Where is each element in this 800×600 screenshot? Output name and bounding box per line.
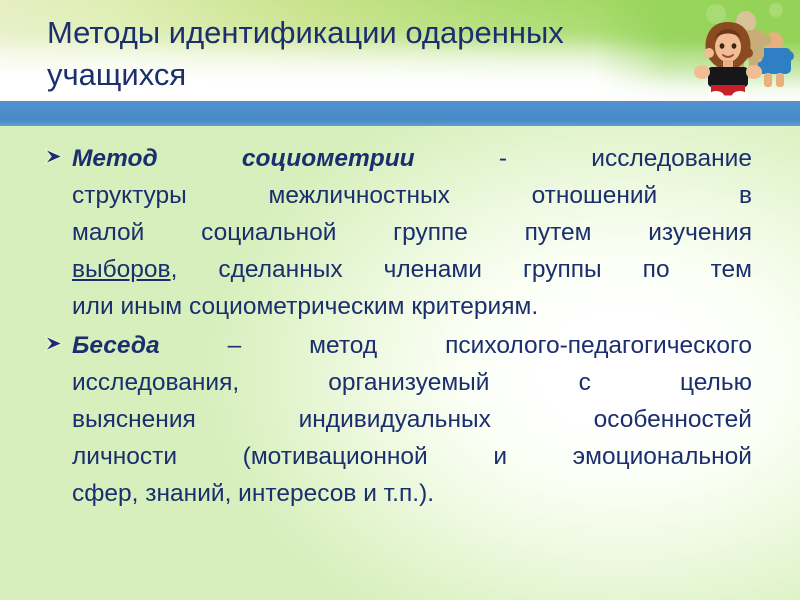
slide-body: Метод социометрии - исследование структу…	[0, 140, 800, 512]
bullet-line: структуры межличностных отношений в	[72, 177, 752, 214]
bullet-line-rest: - исследование	[415, 145, 752, 172]
bullet-item-sociometry: Метод социометрии - исследование структу…	[0, 140, 800, 325]
title-line-1: Методы идентификации одаренных	[47, 15, 564, 50]
bullet-item-conversation: Беседа – метод психолого-педагогического…	[0, 327, 800, 512]
bullet-line: малой социальной группе путем изучения	[72, 214, 752, 251]
bullet-line: исследования, организуемый с целью	[72, 364, 752, 401]
bullet-line: сфер, знаний, интересов и т.п.).	[72, 475, 752, 512]
bullet-text-sociometry: Метод социометрии - исследование структу…	[72, 140, 752, 325]
header-divider-bar	[0, 101, 800, 126]
bullet-line: выяснения индивидуальных особенностей	[72, 401, 752, 438]
bullet-lead-term: Метод социометрии	[72, 145, 415, 172]
arrow-bullet-icon	[43, 145, 65, 169]
arrow-bullet-icon	[43, 332, 65, 356]
bullet-line: Беседа – метод психолого-педагогического	[72, 327, 752, 364]
presentation-slide: Методы идентификации одаренных учащихся	[0, 0, 800, 600]
bullet-line: или иным социометрическим критериям.	[72, 288, 752, 325]
bullet-line: личности (мотивационной и эмоциональной	[72, 438, 752, 475]
bullet-line: выборов, сделанных членами группы по тем	[72, 251, 752, 288]
bullet-text-conversation: Беседа – метод психолого-педагогического…	[72, 327, 752, 512]
bullet-line-rest: – метод психолого-педагогического	[160, 332, 752, 359]
bullet-lead-term: Беседа	[72, 332, 160, 359]
underlined-term: выборов	[72, 256, 171, 283]
title-line-2: учащихся	[47, 57, 186, 92]
bullet-line-rest: , сделанных членами группы по тем	[171, 256, 752, 283]
page-title: Методы идентификации одаренных учащихся	[47, 12, 747, 96]
bullet-line: Метод социометрии - исследование	[72, 140, 752, 177]
